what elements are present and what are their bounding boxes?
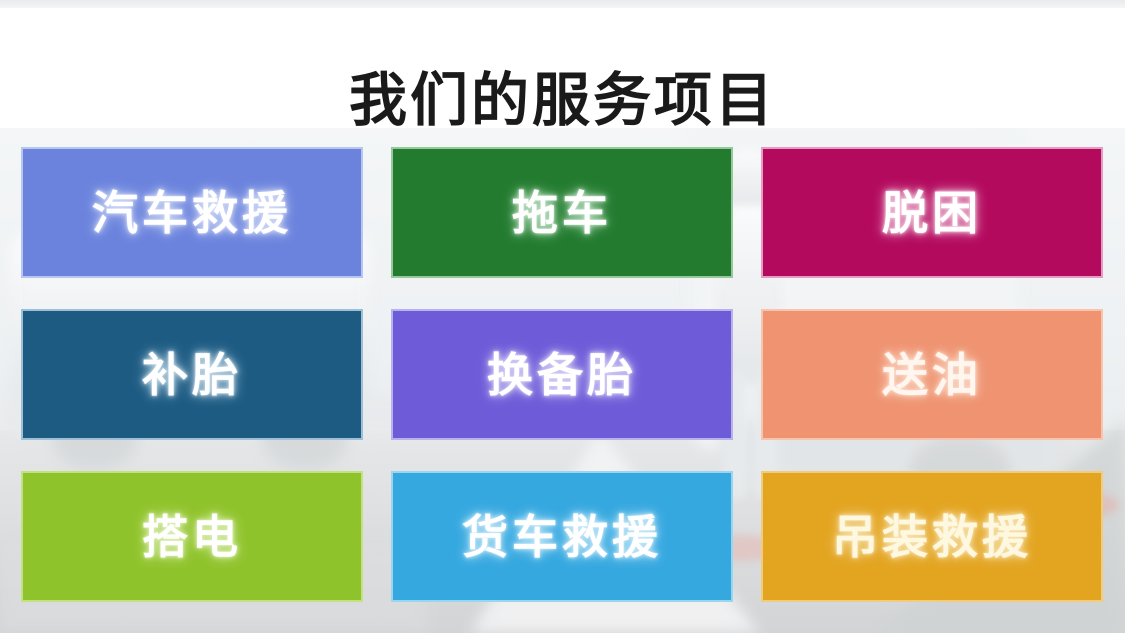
- service-tile-label: 补胎: [142, 352, 242, 398]
- service-tile-extrication[interactable]: 脱困: [761, 147, 1103, 278]
- service-tile-car-rescue[interactable]: 汽车救援: [21, 147, 363, 278]
- service-tile-tire-repair[interactable]: 补胎: [21, 309, 363, 440]
- service-tile-label: 搭电: [142, 514, 242, 560]
- page-title: 我们的服务项目: [0, 65, 1125, 137]
- service-tile-grid: 汽车救援 拖车 脱困 补胎 换备胎 送油 搭电 货车救援 吊装救援: [21, 147, 1104, 602]
- top-edge-strip: [0, 0, 1125, 8]
- service-tile-jump-start[interactable]: 搭电: [21, 471, 363, 602]
- service-tile-truck-rescue[interactable]: 货车救援: [391, 471, 733, 602]
- service-tile-label: 换备胎: [487, 352, 637, 398]
- service-tile-label: 脱困: [882, 190, 982, 236]
- service-tile-label: 吊装救援: [832, 514, 1032, 560]
- service-tile-fuel-delivery[interactable]: 送油: [761, 309, 1103, 440]
- service-tile-crane-lifting[interactable]: 吊装救援: [761, 471, 1103, 602]
- service-tile-tow-truck[interactable]: 拖车: [391, 147, 733, 278]
- service-tile-label: 汽车救援: [92, 190, 292, 236]
- service-tile-label: 拖车: [512, 190, 612, 236]
- service-tile-spare-tire[interactable]: 换备胎: [391, 309, 733, 440]
- service-tile-label: 送油: [882, 352, 982, 398]
- service-tile-label: 货车救援: [462, 514, 662, 560]
- service-items-poster: 我们的服务项目 汽车救援 拖车 脱困 补胎 换备胎 送油 搭电 货车救援 吊装救…: [0, 0, 1125, 633]
